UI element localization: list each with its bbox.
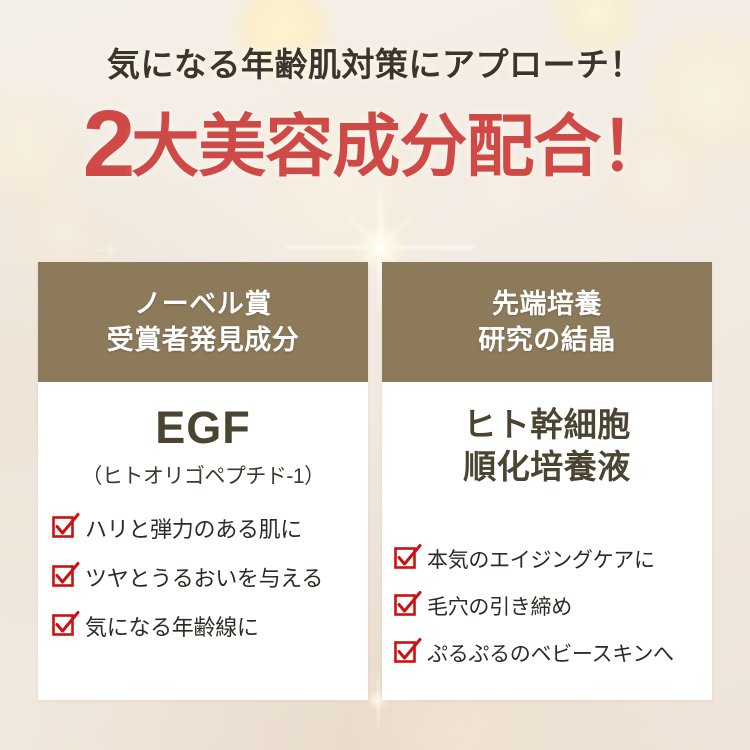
benefit-label: 気になる年齢線に — [85, 610, 259, 642]
list-item: 気になる年齢線に — [52, 610, 368, 642]
benefit-list: ハリと弾力のある肌に ツヤとうるおいを与える — [38, 512, 368, 659]
benefit-label: ハリと弾力のある肌に — [85, 512, 302, 544]
list-item: ハリと弾力のある肌に — [52, 512, 368, 544]
checked-checkbox-icon — [394, 594, 418, 618]
headline-title: 2大美容成分配合！ — [0, 97, 750, 192]
checked-checkbox-icon — [394, 547, 418, 571]
card-header-label: 先端培養 研究の結晶 — [478, 286, 616, 358]
benefit-label: 毛穴の引き締め — [427, 591, 572, 621]
ingredient-card-egf: ノーベル賞 受賞者発見成分 EGF （ヒトオリゴペプチド-1） ハリと弾力のある… — [38, 262, 368, 700]
promo-banner: 気になる年齢肌対策にアプローチ！ 2大美容成分配合！ ノーベル賞 受賞者発見成分… — [0, 0, 750, 750]
card-body: ヒト幹細胞 順化培養液 本気のエイジングケアに — [382, 382, 712, 700]
checked-checkbox-icon — [52, 516, 76, 540]
benefit-list: 本気のエイジングケアに 毛穴の引き締め — [382, 544, 712, 685]
checked-checkbox-icon — [52, 614, 76, 638]
list-item: ぷるぷるのベビースキンへ — [394, 638, 712, 668]
card-header: 先端培養 研究の結晶 — [382, 262, 712, 382]
headline-block: 気になる年齢肌対策にアプローチ！ 2大美容成分配合！ — [0, 0, 750, 192]
card-header: ノーベル賞 受賞者発見成分 — [38, 262, 368, 382]
headline-number: 2 — [83, 91, 132, 197]
headline-title-text: 大美容成分配合！ — [131, 109, 667, 185]
benefit-label: ぷるぷるのベビースキンへ — [427, 638, 674, 668]
card-body: EGF （ヒトオリゴペプチド-1） ハリと弾力のある肌に — [38, 382, 368, 700]
list-item: 本気のエイジングケアに — [394, 544, 712, 574]
checked-checkbox-icon — [394, 641, 418, 665]
checked-checkbox-icon — [52, 565, 76, 589]
card-header-label: ノーベル賞 受賞者発見成分 — [107, 286, 300, 358]
list-item: 毛穴の引き締め — [394, 591, 712, 621]
list-item: ツヤとうるおいを与える — [52, 561, 368, 593]
ingredient-subname: （ヒトオリゴペプチド-1） — [81, 460, 324, 490]
headline-subtitle: 気になる年齢肌対策にアプローチ！ — [0, 45, 750, 85]
ingredient-name: ヒト幹細胞 順化培養液 — [463, 404, 631, 488]
benefit-label: 本気のエイジングケアに — [427, 544, 655, 574]
ingredient-card-stemcell: 先端培養 研究の結晶 ヒト幹細胞 順化培養液 本気のエイジングケアに — [382, 262, 712, 700]
benefit-label: ツヤとうるおいを与える — [85, 561, 323, 593]
ingredient-name: EGF — [155, 404, 251, 453]
ingredient-cards: ノーベル賞 受賞者発見成分 EGF （ヒトオリゴペプチド-1） ハリと弾力のある… — [38, 262, 712, 700]
